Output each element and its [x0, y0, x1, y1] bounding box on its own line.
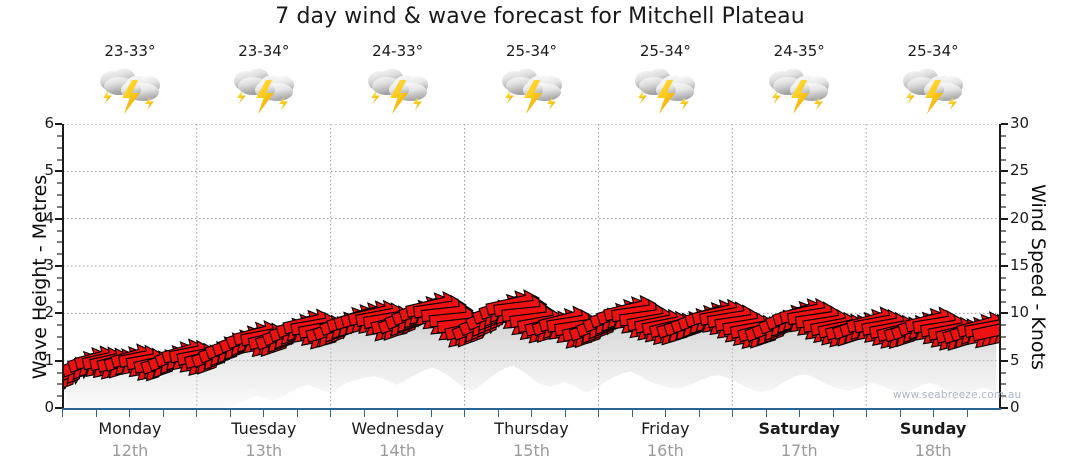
day-header-friday: 25-34° — [598, 40, 732, 122]
day-header-wednesday: 24-33° — [331, 40, 465, 122]
day-date: 15th — [465, 440, 599, 462]
left-tick-mark — [57, 147, 62, 149]
x-tick-mark — [129, 410, 130, 417]
left-tick-mark — [57, 230, 62, 232]
day-temp-range: 24-35° — [774, 42, 825, 60]
x-tick-mark — [297, 410, 298, 417]
day-header-thursday: 25-34° — [465, 40, 599, 122]
x-tick-mark — [464, 410, 465, 417]
right-tick-mark — [1001, 182, 1006, 184]
left-tick-mark — [57, 324, 62, 326]
thunderstorm-icon — [94, 64, 166, 116]
day-name: Sunday — [866, 418, 1000, 440]
left-tick-mark — [55, 218, 62, 220]
right-tick-mark — [1001, 170, 1008, 172]
left-tick-mark — [55, 265, 62, 267]
left-tick-mark — [57, 289, 62, 291]
day-footer-thursday: Thursday15th — [465, 418, 599, 470]
x-tick-mark — [431, 410, 432, 417]
right-tick-mark — [1001, 159, 1006, 161]
left-tick-mark — [55, 123, 62, 125]
day-footer-monday: Monday12th — [63, 418, 197, 470]
right-tick-mark — [1001, 147, 1006, 149]
x-tick-mark — [967, 410, 968, 417]
day-temp-range: 23-34° — [238, 42, 289, 60]
forecast-plot-area — [63, 124, 1000, 408]
right-tick-mark — [1001, 218, 1008, 220]
day-date: 18th — [866, 440, 1000, 462]
left-tick-mark — [57, 277, 62, 279]
day-date: 17th — [732, 440, 866, 462]
wind-chart-svg — [63, 124, 1000, 408]
x-tick-mark — [799, 410, 800, 417]
day-header-saturday: 24-35° — [732, 40, 866, 122]
right-tick-mark — [1001, 230, 1006, 232]
left-tick-mark — [55, 407, 62, 409]
x-tick-mark — [364, 410, 365, 417]
right-tick-mark — [1001, 265, 1008, 267]
left-tick-mark — [57, 135, 62, 137]
left-tick-mark — [57, 348, 62, 350]
thunderstorm-icon — [629, 64, 701, 116]
right-tick-mark — [1001, 253, 1006, 255]
page-title: 7 day wind & wave forecast for Mitchell … — [0, 4, 1080, 29]
left-tick-mark — [57, 253, 62, 255]
day-name: Monday — [63, 418, 197, 440]
day-date: 14th — [331, 440, 465, 462]
x-tick-mark — [96, 410, 97, 417]
day-header-strip: 23-33° — [63, 40, 1000, 122]
right-tick-mark — [1001, 241, 1006, 243]
left-tick-mark — [57, 336, 62, 338]
x-tick-mark — [900, 410, 901, 417]
day-temp-range: 25-34° — [908, 42, 959, 60]
x-tick-mark — [163, 410, 164, 417]
x-tick-mark — [833, 410, 834, 417]
left-tick-mark — [57, 372, 62, 374]
right-tick-mark — [1001, 348, 1006, 350]
right-tick-mark — [1001, 383, 1006, 385]
right-tick-mark — [1001, 277, 1006, 279]
thunderstorm-icon — [897, 64, 969, 116]
day-temp-range: 24-33° — [372, 42, 423, 60]
right-tick-mark — [1001, 194, 1006, 196]
thunderstorm-icon — [496, 64, 568, 116]
x-tick-mark — [196, 410, 197, 417]
x-tick-mark — [665, 410, 666, 417]
left-tick-mark — [57, 241, 62, 243]
right-tick-mark — [1001, 312, 1008, 314]
day-temp-range: 23-33° — [104, 42, 155, 60]
day-name: Friday — [598, 418, 732, 440]
right-tick-mark — [1001, 336, 1006, 338]
right-tick-mark — [1001, 360, 1008, 362]
left-tick-mark — [57, 301, 62, 303]
x-tick-mark — [699, 410, 700, 417]
day-date: 16th — [598, 440, 732, 462]
left-tick-mark — [55, 170, 62, 172]
right-tick-mark — [1001, 407, 1008, 409]
thunderstorm-icon — [763, 64, 835, 116]
day-footer-tuesday: Tuesday13th — [197, 418, 331, 470]
x-tick-mark — [330, 410, 331, 417]
day-footer-saturday: Saturday17th — [732, 418, 866, 470]
left-tick-mark — [57, 395, 62, 397]
day-temp-range: 25-34° — [506, 42, 557, 60]
right-tick-mark — [1001, 301, 1006, 303]
left-tick-mark — [57, 159, 62, 161]
x-tick-mark — [766, 410, 767, 417]
left-axis-spine — [62, 124, 64, 409]
left-tick-mark — [55, 312, 62, 314]
right-tick-mark — [1001, 372, 1006, 374]
day-date: 12th — [63, 440, 197, 462]
day-footer-wednesday: Wednesday14th — [331, 418, 465, 470]
left-tick-mark — [57, 194, 62, 196]
day-name: Thursday — [465, 418, 599, 440]
day-name: Tuesday — [197, 418, 331, 440]
right-tick-mark — [1001, 289, 1006, 291]
day-temp-range: 25-34° — [640, 42, 691, 60]
thunderstorm-icon — [228, 64, 300, 116]
x-tick-mark — [531, 410, 532, 417]
left-tick-mark — [57, 182, 62, 184]
day-footer-strip: Monday12thTuesday13thWednesday14thThursd… — [63, 418, 1000, 470]
x-tick-mark — [598, 410, 599, 417]
left-tick-mark — [57, 206, 62, 208]
day-date: 13th — [197, 440, 331, 462]
left-axis-title: Wave Height - Metres — [29, 127, 51, 427]
x-tick-mark — [397, 410, 398, 417]
right-tick-mark — [1001, 206, 1006, 208]
day-footer-sunday: Sunday18th — [866, 418, 1000, 470]
seabreeze-watermark: www.seabreeze.com.au — [893, 389, 1021, 401]
right-tick-mark — [1001, 324, 1006, 326]
x-tick-mark — [632, 410, 633, 417]
day-name: Saturday — [732, 418, 866, 440]
left-tick-mark — [55, 360, 62, 362]
x-tick-mark — [230, 410, 231, 417]
x-tick-mark — [498, 410, 499, 417]
day-footer-friday: Friday16th — [598, 418, 732, 470]
right-tick-mark — [1001, 123, 1008, 125]
x-tick-mark — [866, 410, 867, 417]
x-tick-mark — [732, 410, 733, 417]
day-header-tuesday: 23-34° — [197, 40, 331, 122]
x-tick-mark — [933, 410, 934, 417]
x-tick-mark — [565, 410, 566, 417]
right-axis-title: Wind Speed - Knots — [1027, 127, 1049, 427]
thunderstorm-icon — [362, 64, 434, 116]
x-tick-mark — [62, 410, 63, 417]
day-header-monday: 23-33° — [63, 40, 197, 122]
day-header-sunday: 25-34° — [866, 40, 1000, 122]
left-tick-mark — [57, 383, 62, 385]
right-tick-mark — [1001, 135, 1006, 137]
day-name: Wednesday — [331, 418, 465, 440]
x-tick-mark — [263, 410, 264, 417]
